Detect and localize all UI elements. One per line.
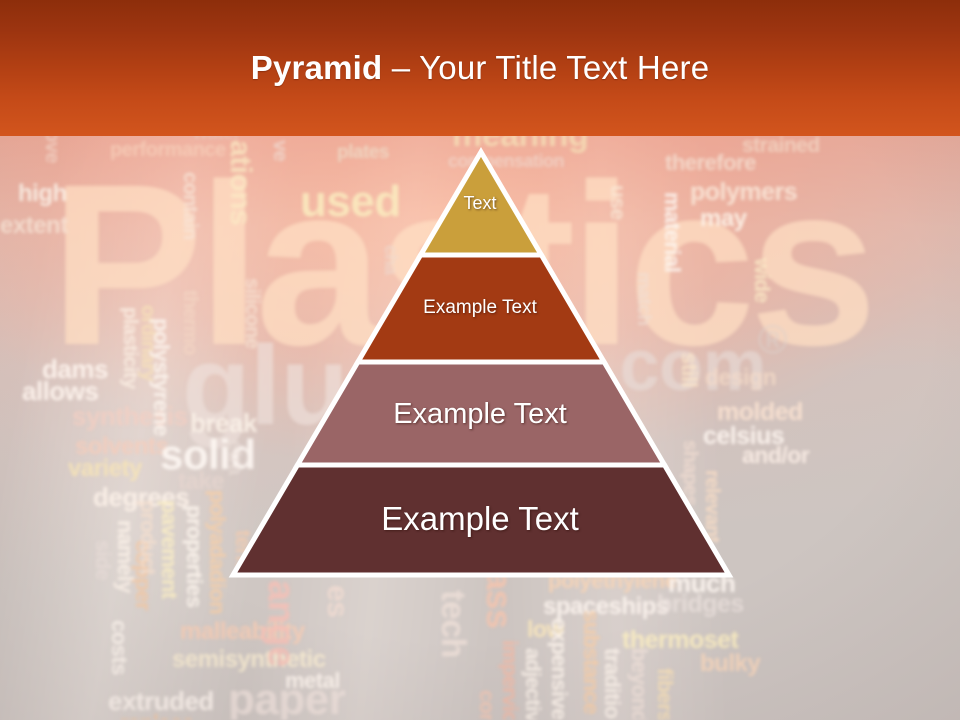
slide-canvas: Plasticsglue.com®performancewaterplatesm…: [0, 0, 960, 720]
pyramid-tier-3[interactable]: [297, 362, 664, 465]
title-rest-part: – Your Title Text Here: [392, 49, 709, 86]
page-title[interactable]: Pyramid – Your Title Text Here: [0, 48, 960, 88]
pyramid-tier-2[interactable]: [358, 255, 604, 362]
pyramid-tier-4[interactable]: [233, 465, 729, 575]
title-strong-part: Pyramid: [251, 49, 383, 86]
title-bar: Pyramid – Your Title Text Here: [0, 0, 960, 136]
pyramid-tier-1[interactable]: [421, 152, 542, 255]
